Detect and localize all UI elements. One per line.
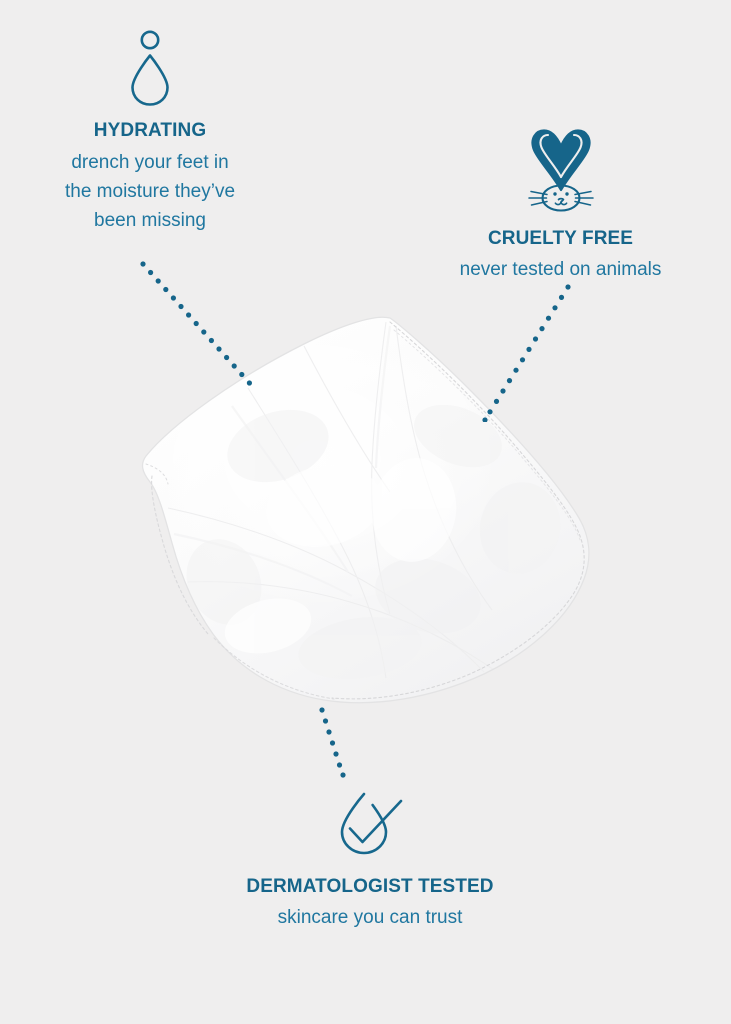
connector-dots-cruelty-free bbox=[482, 282, 582, 422]
feature-desc-line: the moisture they’ve bbox=[65, 181, 235, 202]
feature-dermatologist-tested: DERMATOLOGIST TESTED skincare you can tr… bbox=[185, 790, 555, 932]
feature-title-hydrating: HYDRATING bbox=[28, 120, 272, 142]
feature-hydrating: HYDRATING drench your feet in the moistu… bbox=[28, 28, 272, 235]
feature-desc-line: skincare you can trust bbox=[278, 907, 463, 928]
feature-title-cruelty-free: CRUELTY FREE bbox=[418, 228, 703, 250]
feature-desc-hydrating: drench your feet in the moisture they’ve… bbox=[28, 148, 272, 235]
feature-desc-line: drench your feet in bbox=[71, 152, 228, 173]
feature-cruelty-free: CRUELTY FREE never tested on animals bbox=[418, 128, 703, 284]
water-droplet-icon bbox=[126, 28, 174, 106]
droplet-checkmark-icon bbox=[334, 790, 406, 856]
connector-dots-hydrating bbox=[138, 258, 258, 386]
feature-desc-cruelty-free: never tested on animals bbox=[418, 255, 703, 284]
feature-desc-line: been missing bbox=[94, 210, 206, 231]
infographic-page: HYDRATING drench your feet in the moistu… bbox=[0, 0, 731, 1024]
feature-desc-line: never tested on animals bbox=[460, 259, 662, 280]
bunny-heart-ears-icon bbox=[522, 128, 600, 212]
feature-desc-dermatologist-tested: skincare you can trust bbox=[185, 903, 555, 932]
connector-dots-dermatologist bbox=[318, 706, 358, 778]
feature-title-dermatologist-tested: DERMATOLOGIST TESTED bbox=[185, 876, 555, 898]
